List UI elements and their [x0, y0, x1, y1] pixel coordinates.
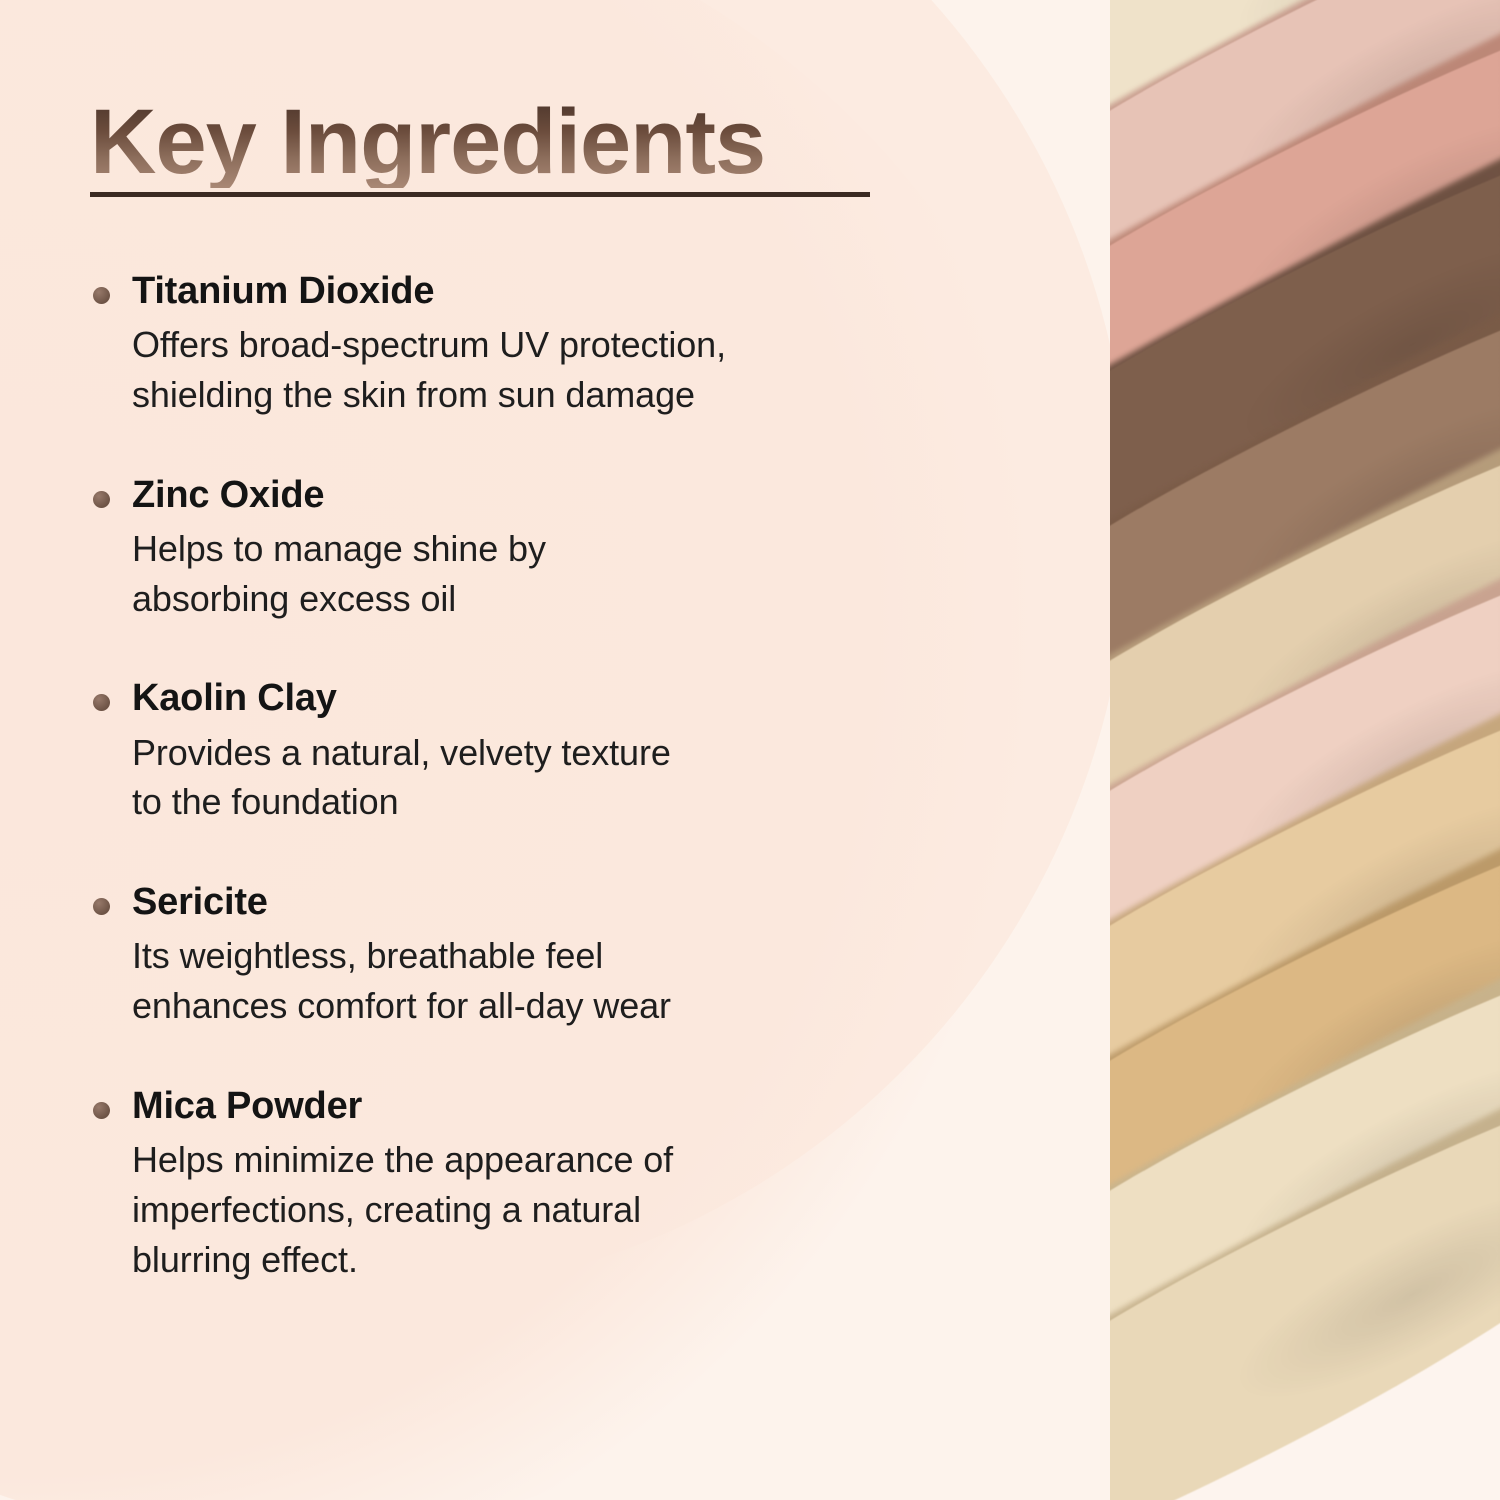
page-title: Key Ingredients [90, 96, 910, 188]
bullet-dot-icon [93, 694, 110, 711]
ingredient-list: Titanium DioxideOffers broad-spectrum UV… [90, 268, 990, 1284]
bullet-dot-icon [93, 491, 110, 508]
ingredient-description: Provides a natural, velvety texture to t… [132, 728, 990, 827]
ingredient-name: Sericite [132, 879, 990, 925]
ingredient-name: Zinc Oxide [132, 472, 990, 518]
bullet-dot-icon [93, 1102, 110, 1119]
ingredient-item: Zinc OxideHelps to manage shine by absor… [90, 472, 990, 624]
bullet-dot-icon [93, 287, 110, 304]
ingredient-description: Offers broad-spectrum UV protection, shi… [132, 320, 990, 419]
ingredient-name: Titanium Dioxide [132, 268, 990, 314]
powder-swatch-bands [1110, 0, 1500, 1500]
ingredient-item: Kaolin ClayProvides a natural, velvety t… [90, 675, 990, 827]
ingredient-item: Mica PowderHelps minimize the appearance… [90, 1083, 990, 1284]
ingredient-description: Helps to manage shine by absorbing exces… [132, 524, 990, 623]
powder-swatch-photo [1110, 0, 1500, 1500]
ingredient-item: SericiteIts weightless, breathable feel … [90, 879, 990, 1031]
ingredient-item: Titanium DioxideOffers broad-spectrum UV… [90, 268, 990, 420]
bullet-dot-icon [93, 898, 110, 915]
page-title-block: Key Ingredients [90, 96, 910, 197]
ingredient-name: Kaolin Clay [132, 675, 990, 721]
ingredient-name: Mica Powder [132, 1083, 990, 1129]
ingredient-description: Its weightless, breathable feel enhances… [132, 931, 990, 1030]
key-ingredients-poster: Key Ingredients Titanium DioxideOffers b… [0, 0, 1500, 1500]
ingredient-description: Helps minimize the appearance of imperfe… [132, 1135, 990, 1284]
